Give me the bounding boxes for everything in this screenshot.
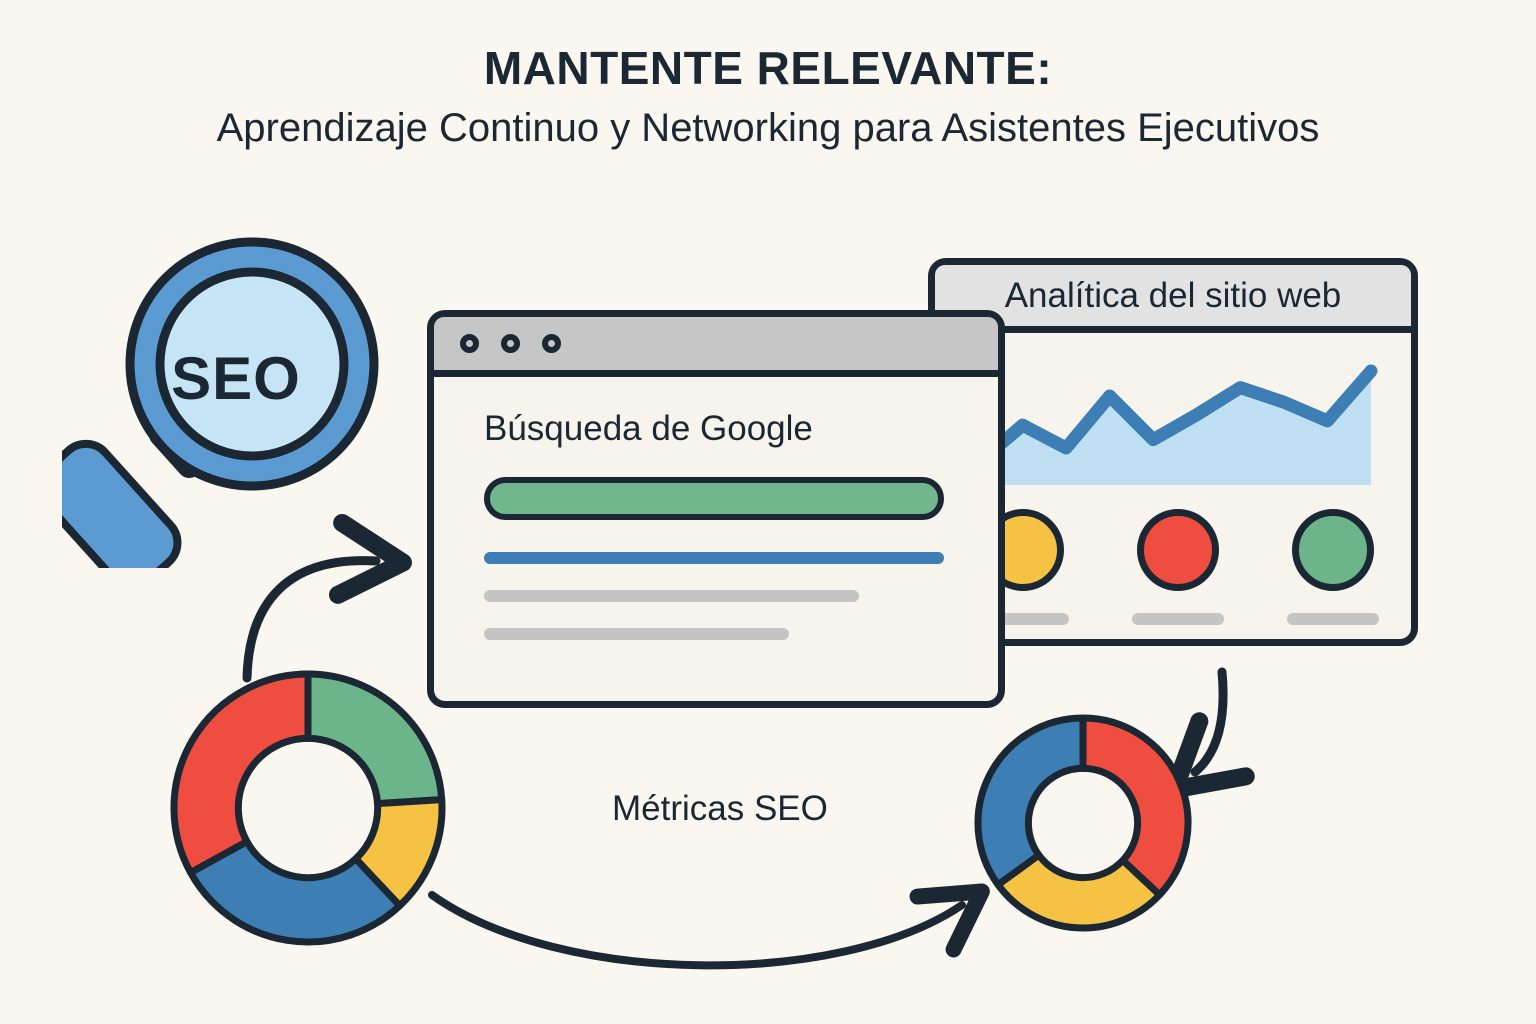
browser-content: Búsqueda de Google xyxy=(434,377,998,640)
analytics-panel-title: Analítica del sitio web xyxy=(1005,276,1342,316)
seo-label-wrap: SEO xyxy=(62,232,402,568)
arrow-analytics-to-donut xyxy=(1195,672,1223,772)
analytics-panel-body xyxy=(935,333,1411,639)
window-close-dot-icon[interactable] xyxy=(460,334,479,353)
metrics-caption: Métricas SEO xyxy=(612,789,828,829)
result-link-line[interactable] xyxy=(484,552,944,564)
window-maximize-dot-icon[interactable] xyxy=(542,334,561,353)
traffic-area-chart xyxy=(969,361,1381,485)
seo-donut-chart-left xyxy=(168,668,448,948)
donut-left-svg xyxy=(168,668,448,948)
metric-circle-green[interactable] xyxy=(1292,509,1374,591)
donut-slice-azul xyxy=(978,718,1083,885)
seo-magnifier: SEO xyxy=(62,232,402,568)
donut-slice-rojo xyxy=(174,674,308,873)
arrow-magnifier-to-browser xyxy=(247,561,376,678)
metric-bar-red xyxy=(1132,613,1224,625)
metric-item[interactable] xyxy=(1285,509,1381,625)
traffic-chart-svg xyxy=(969,361,1381,485)
metric-item[interactable] xyxy=(1130,509,1226,625)
browser-title-bar xyxy=(434,317,998,377)
page-subtitle: Aprendizaje Continuo y Networking para A… xyxy=(103,104,1433,153)
infographic-canvas: MANTENTE RELEVANTE: Aprendizaje Continuo… xyxy=(0,0,1536,1024)
metric-bar-green xyxy=(1287,613,1379,625)
analytics-panel-header: Analítica del sitio web xyxy=(935,265,1411,333)
title-block: MANTENTE RELEVANTE: Aprendizaje Continuo… xyxy=(0,44,1536,153)
seo-label: SEO xyxy=(171,344,301,413)
google-search-heading: Búsqueda de Google xyxy=(484,409,966,449)
search-input[interactable] xyxy=(484,477,944,520)
window-minimize-dot-icon[interactable] xyxy=(501,334,520,353)
page-title: MANTENTE RELEVANTE: xyxy=(0,44,1536,92)
donut-slice-verde xyxy=(308,674,442,804)
metric-circle-group xyxy=(975,509,1381,625)
donut-right-svg xyxy=(972,712,1194,934)
metric-circle-red[interactable] xyxy=(1137,509,1219,591)
search-browser-window[interactable]: Búsqueda de Google xyxy=(427,310,1005,708)
result-text-line-2 xyxy=(484,628,789,640)
seo-donut-chart-right xyxy=(972,712,1194,934)
arrow-donut-to-donut xyxy=(432,895,962,965)
result-text-line-1 xyxy=(484,590,859,602)
